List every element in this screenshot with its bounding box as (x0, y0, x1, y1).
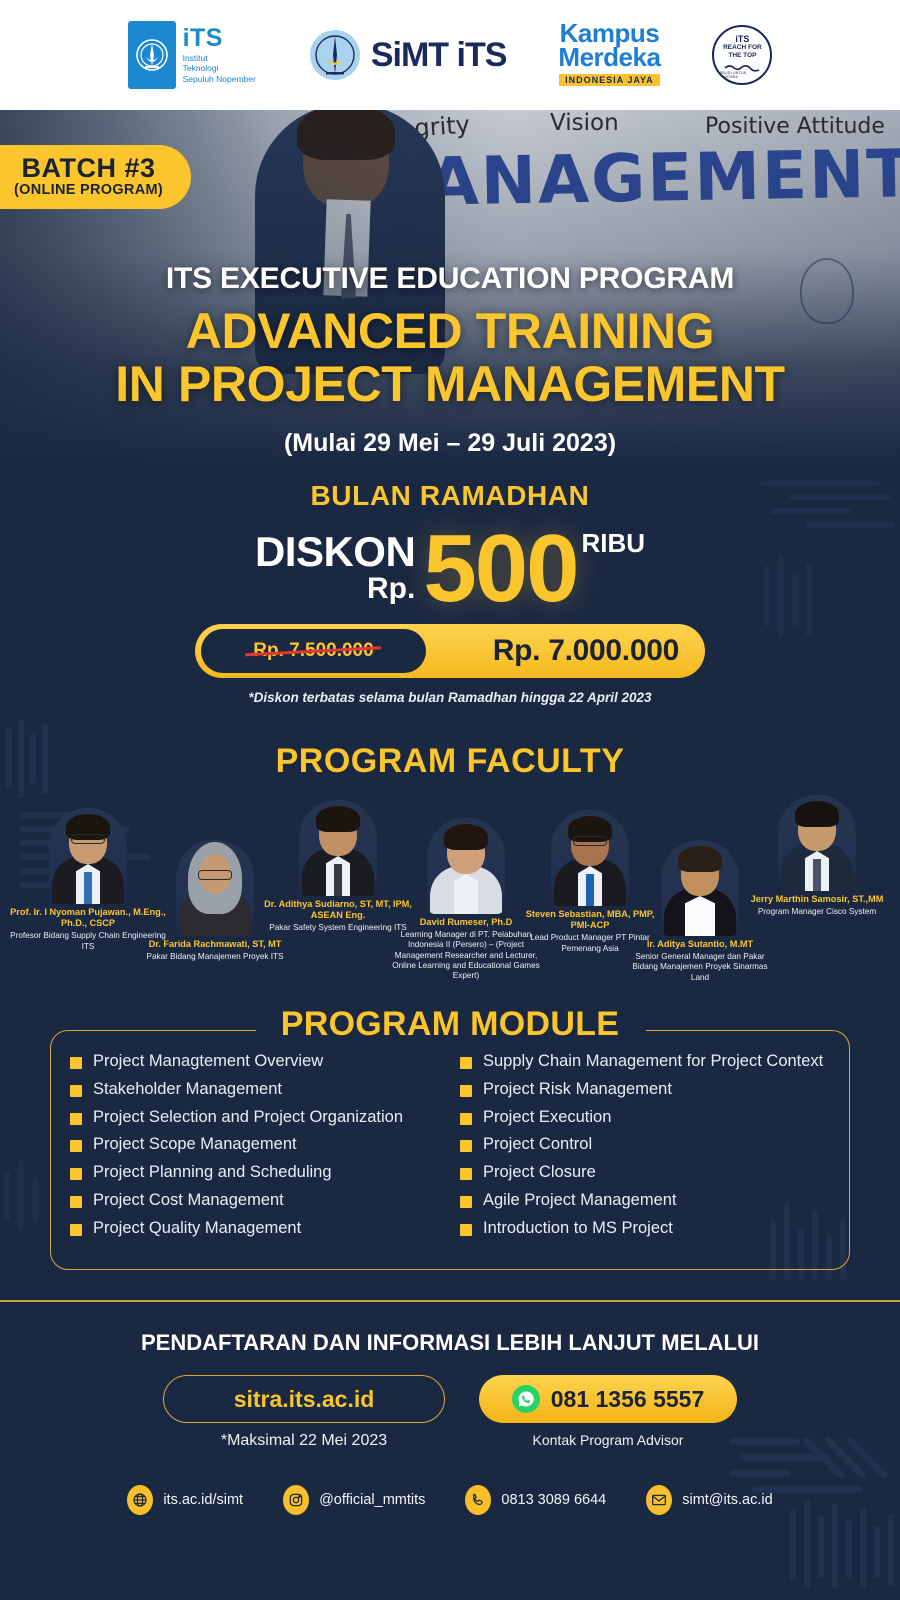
contact-instagram-text: @official_mmtits (319, 1492, 425, 1508)
its-sub-line1: Institut (183, 53, 256, 63)
module-item: Project Execution (460, 1108, 850, 1128)
registration-notes: *Maksimal 22 Mei 2023 Kontak Program Adv… (0, 1432, 900, 1450)
faculty-photo (176, 840, 254, 936)
module-item: Project Control (460, 1135, 850, 1155)
its-sub-line2: Teknologi (183, 63, 256, 73)
module-list: Project Managtement Overview Stakeholder… (70, 1052, 850, 1262)
program-date: (Mulai 29 Mei – 29 Juli 2023) (0, 429, 900, 458)
batch-badge: BATCH #3 (ONLINE PROGRAM) (0, 145, 191, 209)
price-bar: Rp. 7.500.000 Rp. 7.000.000 (195, 624, 705, 678)
faculty-photo (427, 818, 505, 914)
simt-emblem-icon (308, 28, 362, 82)
module-item: Project Selection and Project Organizati… (70, 1108, 460, 1128)
module-item-label: Supply Chain Management for Project Cont… (483, 1052, 823, 1072)
module-item: Project Risk Management (460, 1080, 850, 1100)
contact-email-text: simt@its.ac.id (682, 1492, 772, 1508)
module-item: Project Scope Management (70, 1135, 460, 1155)
contact-email[interactable]: simt@its.ac.id (646, 1485, 772, 1515)
module-item-label: Project Closure (483, 1163, 596, 1183)
module-item-label: Introduction to MS Project (483, 1219, 673, 1239)
registration-heading: PENDAFTARAN DAN INFORMASI LEBIH LANJUT M… (0, 1330, 900, 1356)
simt-wordmark: SiMT iTS (371, 36, 507, 75)
module-item-label: Project Scope Management (93, 1135, 297, 1155)
faculty-photo (551, 810, 629, 906)
faculty-section-title: PROGRAM FACULTY (0, 742, 900, 781)
phone-icon (465, 1485, 491, 1515)
contact-phone[interactable]: 0813 3089 6644 (465, 1485, 606, 1515)
batch-mode-label: (ONLINE PROGRAM) (14, 182, 163, 198)
old-price-chip: Rp. 7.500.000 (201, 629, 426, 673)
reach-bottom-text: BERBUDI UNTUK NUSANTARA (714, 71, 770, 79)
module-item: Project Quality Management (70, 1219, 460, 1239)
faculty-role: Pakar Bidang Manajemen Proyek ITS (140, 952, 290, 962)
faculty-role: Program Manager Cisco System (742, 907, 892, 917)
whatsapp-icon (512, 1385, 540, 1413)
kampus-merdeka-tagline: INDONESIA JAYA (559, 74, 660, 86)
its-reach-for-the-top-logo: iTS REACH FORTHE TOP BERBUDI UNTUK NUSAN… (712, 25, 772, 85)
bullet-square-icon (70, 1113, 82, 1125)
bullet-square-icon (70, 1057, 82, 1069)
instagram-icon (283, 1485, 309, 1515)
module-item-label: Project Selection and Project Organizati… (93, 1108, 403, 1128)
whatsapp-note: Kontak Program Advisor (479, 1432, 737, 1450)
module-section-title: PROGRAM MODULE (0, 1005, 900, 1044)
kampus-merdeka-logo: Kampus Merdeka INDONESIA JAYA (558, 22, 660, 88)
reach-top-text: iTS (735, 35, 749, 44)
program-title-line1: ADVANCED TRAINING (0, 305, 900, 358)
module-item: Supply Chain Management for Project Cont… (460, 1052, 850, 1072)
contact-phone-text: 0813 3089 6644 (501, 1492, 606, 1508)
contact-website-text: its.ac.id/simt (163, 1492, 243, 1508)
bullet-square-icon (460, 1196, 472, 1208)
module-item-label: Stakeholder Management (93, 1080, 282, 1100)
website-button[interactable]: sitra.its.ac.id (163, 1375, 445, 1423)
reach-mid-text: REACH FORTHE TOP (723, 44, 762, 58)
program-eyebrow-title: ITS EXECUTIVE EDUCATION PROGRAM (0, 262, 900, 296)
bullet-square-icon (460, 1224, 472, 1236)
faculty-photo (661, 840, 739, 936)
its-gear-lotus-icon (132, 33, 172, 77)
module-item: Project Managtement Overview (70, 1052, 460, 1072)
discount-word: DISKON (255, 531, 415, 572)
kampus-merdeka-line2: Merdeka (558, 46, 660, 70)
title-block: ITS EXECUTIVE EDUCATION PROGRAM ADVANCED… (0, 262, 900, 458)
bullet-square-icon (70, 1196, 82, 1208)
bullet-square-icon (460, 1085, 472, 1097)
module-item-label: Project Execution (483, 1108, 611, 1128)
module-item: Stakeholder Management (70, 1080, 460, 1100)
its-sub-line3: Sepuluh Nopember (183, 74, 256, 84)
registration-divider (0, 1300, 900, 1302)
module-item-label: Project Risk Management (483, 1080, 672, 1100)
faculty-photo (299, 800, 377, 896)
ramadhan-label: BULAN RAMADHAN (0, 480, 900, 512)
faculty-member: Jerry Marthin Samosir, ST.,MM Program Ma… (742, 795, 892, 917)
discount-currency: Rp. (255, 574, 415, 604)
module-item: Agile Project Management (460, 1191, 850, 1211)
bullet-square-icon (70, 1085, 82, 1097)
module-column-right: Supply Chain Management for Project Cont… (460, 1052, 850, 1262)
bullet-square-icon (460, 1113, 472, 1125)
module-item: Project Cost Management (70, 1191, 460, 1211)
faculty-role: Senior General Manager dan Pakar Bidang … (625, 952, 775, 983)
price-block: BULAN RAMADHAN DISKON Rp. 500 RIBU Rp. 7… (0, 480, 900, 705)
module-item-label: Project Planning and Scheduling (93, 1163, 332, 1183)
module-item-label: Agile Project Management (483, 1191, 677, 1211)
registration-buttons: sitra.its.ac.id 081 1356 5557 (0, 1375, 900, 1423)
bullet-square-icon (460, 1057, 472, 1069)
module-item-label: Project Managtement Overview (93, 1052, 323, 1072)
faculty-list: Prof. Ir. I Nyoman Pujawan., M.Eng., Ph.… (0, 800, 900, 1000)
faculty-photo (778, 795, 856, 891)
module-column-left: Project Managtement Overview Stakeholder… (70, 1052, 460, 1262)
email-icon (646, 1485, 672, 1515)
its-wordmark: iTS (183, 26, 256, 51)
contact-instagram[interactable]: @official_mmtits (283, 1485, 425, 1515)
discount-note: *Diskon terbatas selama bulan Ramadhan h… (0, 690, 900, 705)
discount-unit: RIBU (581, 528, 645, 559)
new-price: Rp. 7.000.000 (493, 634, 679, 668)
module-item-label: Project Quality Management (93, 1219, 301, 1239)
bullet-square-icon (70, 1140, 82, 1152)
batch-number-label: BATCH #3 (14, 154, 163, 182)
faculty-name: Dr. Farida Rachmawati, ST, MT (140, 939, 290, 950)
globe-icon (127, 1485, 153, 1515)
program-title-line2: IN PROJECT MANAGEMENT (0, 358, 900, 411)
simt-its-logo: SiMT iTS (308, 28, 507, 82)
bullet-square-icon (70, 1224, 82, 1236)
its-logo: iTS Institut Teknologi Sepuluh Nopember (128, 21, 256, 89)
module-item-label: Project Control (483, 1135, 592, 1155)
faculty-name: Ir. Aditya Sutantio, M.MT (625, 939, 775, 950)
footer-contacts: its.ac.id/simt @official_mmtits 0813 308… (0, 1478, 900, 1522)
module-item-label: Project Cost Management (93, 1191, 284, 1211)
module-item: Project Planning and Scheduling (70, 1163, 460, 1183)
bullet-square-icon (460, 1168, 472, 1180)
module-item: Project Closure (460, 1163, 850, 1183)
poster-root: iTS Institut Teknologi Sepuluh Nopember … (0, 0, 900, 1600)
whatsapp-number: 081 1356 5557 (551, 1386, 705, 1413)
sponsor-logo-bar: iTS Institut Teknologi Sepuluh Nopember … (0, 0, 900, 110)
whatsapp-button[interactable]: 081 1356 5557 (479, 1375, 737, 1423)
discount-row: DISKON Rp. 500 RIBU (0, 514, 900, 610)
contact-website[interactable]: its.ac.id/simt (127, 1485, 243, 1515)
faculty-name: Jerry Marthin Samosir, ST.,MM (742, 894, 892, 905)
discount-amount: 500 (423, 529, 577, 610)
module-item: Introduction to MS Project (460, 1219, 850, 1239)
website-note: *Maksimal 22 Mei 2023 (163, 1432, 445, 1450)
old-price: Rp. 7.500.000 (253, 640, 373, 662)
bullet-square-icon (460, 1140, 472, 1152)
bullet-square-icon (70, 1168, 82, 1180)
its-shield-icon (128, 21, 176, 89)
faculty-photo (49, 808, 127, 904)
